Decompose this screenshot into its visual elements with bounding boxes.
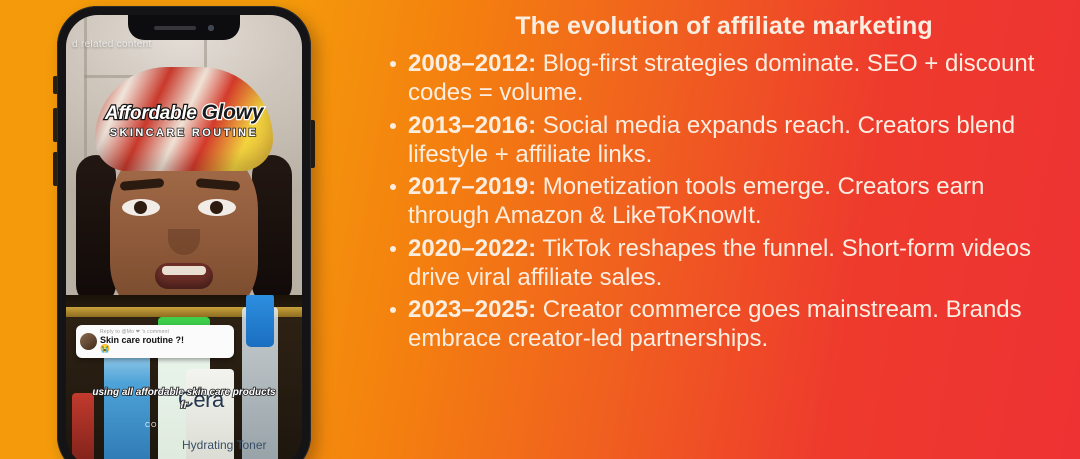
teeth [162,266,206,275]
timeline-bullet-item: 2013–2016: Social media expands reach. C… [382,111,1072,170]
comment-avatar [80,333,97,350]
content-panel: The evolution of affiliate marketing 200… [368,0,1080,459]
page-title: The evolution of affiliate marketing [368,12,1080,41]
front-camera-icon [208,25,214,31]
earpiece-speaker-icon [154,26,196,30]
phone-notch [128,15,240,40]
slide-canvas: d related content Affordable [0,0,1080,459]
phone-mockup-area: d related content Affordable [0,0,360,459]
overlay-subtitle: SKINCARE ROUTINE [105,127,263,139]
related-content-banner: d related content [72,39,152,50]
timeline-bullet-item: 2020–2022: TikTok reshapes the funnel. S… [382,234,1072,293]
video-caption-overlay: using all affordable skin care products … [92,387,276,412]
eye-left [122,199,160,216]
comment-emoji: 😭 [100,345,228,353]
timeline-bullet-item: 2023–2025: Creator commerce goes mainstr… [382,295,1072,354]
phone-screen[interactable]: d related content Affordable [66,15,302,459]
comment-bubble[interactable]: Reply to @Mo ❤ 's comment Skin care rout… [76,325,234,358]
video-bottom-half: CORRECTING Cera Hydrating Toner Reply to… [66,295,302,459]
eye-right [198,199,236,216]
video-top-half: d related content Affordable [66,15,302,295]
timeline-era-label: 2017–2019: [408,173,536,200]
timeline-bullet-item: 2008–2012: Blog-first strategies dominat… [382,49,1072,108]
overlay-title-affordable: Affordable [105,103,197,124]
timeline-bullet-item: 2017–2019: Monetization tools emerge. Cr… [382,172,1072,231]
timeline-era-label: 2023–2025: [408,296,536,323]
timeline-era-label: 2013–2016: [408,112,536,139]
overlay-title-glowy: Glowy [202,101,264,124]
product-blue-cap [246,295,274,347]
video-title-overlay: Affordable Glowy SKINCARE ROUTINE [105,101,263,139]
timeline-bullet-list: 2008–2012: Blog-first strategies dominat… [368,49,1080,354]
timeline-era-label: 2008–2012: [408,50,536,77]
phone-frame: d related content Affordable [57,6,311,459]
hair-right [252,155,292,295]
wall-line [84,15,87,165]
comment-text: Skin care routine ?! [100,335,228,345]
timeline-era-label: 2020–2022: [408,235,536,262]
product-name-label: Hydrating Toner [182,439,267,453]
product-red-bottle [72,393,94,459]
